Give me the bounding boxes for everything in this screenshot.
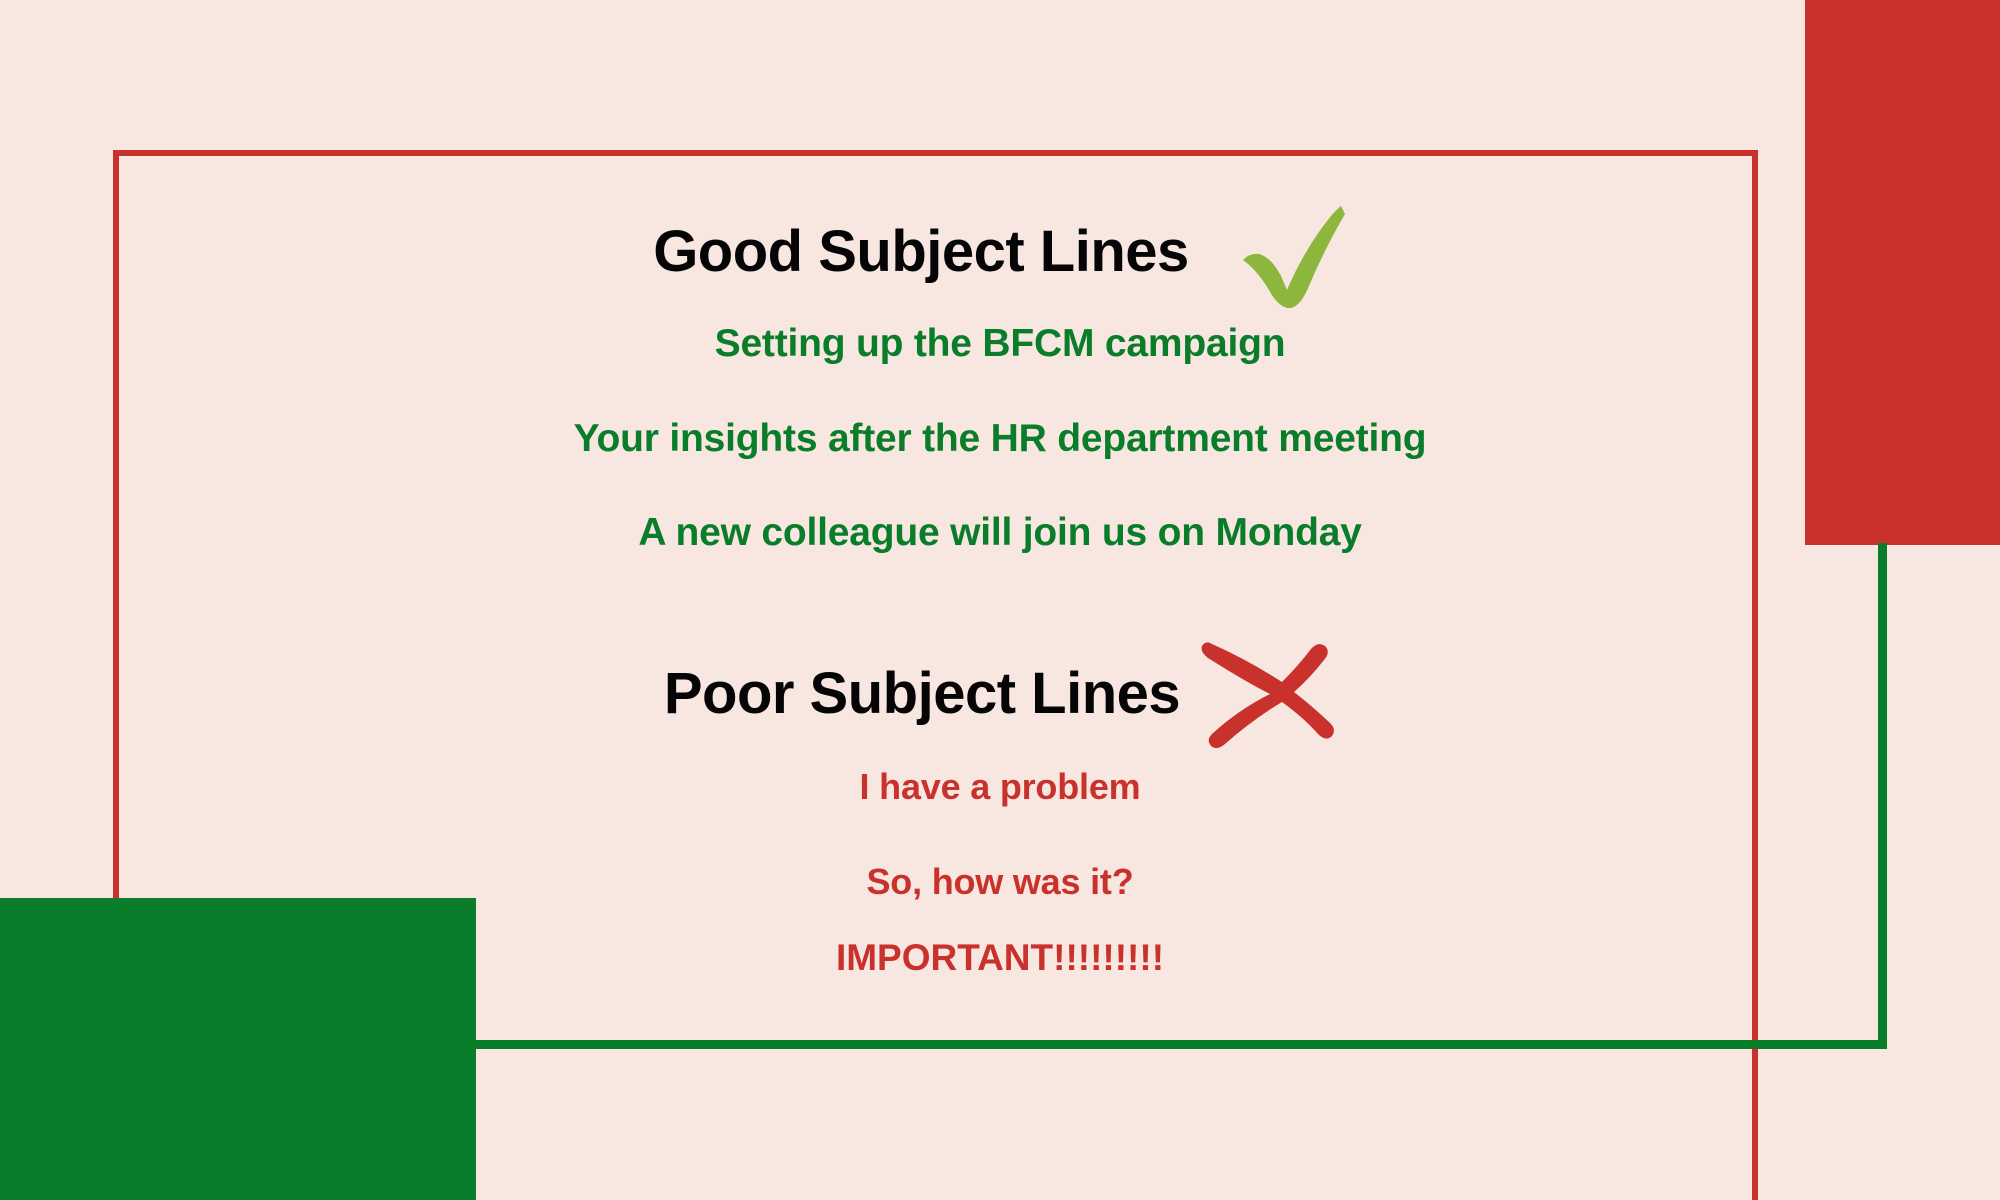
good-subject-line-item-1: Setting up the BFCM campaign bbox=[0, 322, 2000, 366]
poor-subject-line-item-2: So, how was it? bbox=[0, 861, 2000, 903]
infographic-canvas: Good Subject Lines Setting up the BFCM c… bbox=[0, 0, 2000, 1200]
good-subject-line-item-3: A new colleague will join us on Monday bbox=[0, 511, 2000, 555]
poor-subject-line-item-3: IMPORTANT!!!!!!!!! bbox=[0, 937, 2000, 979]
good-subject-line-item-2: Your insights after the HR department me… bbox=[0, 417, 2000, 461]
poor-subject-line-item-1: I have a problem bbox=[0, 766, 2000, 808]
good-subject-lines-title: Good Subject Lines bbox=[653, 218, 1189, 285]
poor-subject-lines-heading-row: Poor Subject Lines bbox=[0, 628, 2000, 758]
check-icon bbox=[1235, 190, 1347, 313]
poor-subject-lines-title: Poor Subject Lines bbox=[664, 660, 1180, 727]
green-angle-line-horizontal bbox=[0, 1040, 1887, 1049]
cross-icon bbox=[1186, 628, 1336, 758]
good-subject-lines-heading-row: Good Subject Lines bbox=[0, 190, 2000, 313]
